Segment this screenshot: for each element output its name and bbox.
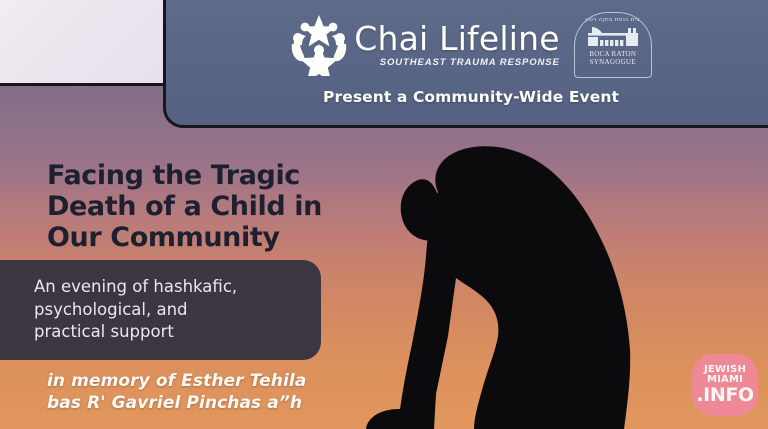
watermark-line-3: .INFO bbox=[696, 386, 753, 405]
synagogue-name-line2: SYNAGOGUE bbox=[589, 58, 636, 66]
memorial-line-2: bas R' Gavriel Pinchas a”h bbox=[47, 392, 377, 414]
synagogue-name: BOCA RATON SYNAGOGUE bbox=[589, 50, 636, 66]
page-title: Facing the Tragic Death of a Child in Ou… bbox=[47, 161, 377, 253]
chai-lifeline-logo: Chai Lifeline SOUTHEAST TRAUMA RESPONSE bbox=[290, 14, 559, 76]
memorial-dedication: in memory of Esther Tehila bas R' Gavrie… bbox=[47, 370, 377, 414]
hunched-man-silhouette-icon bbox=[378, 122, 708, 429]
subtitle-line-3: practical support bbox=[34, 321, 237, 344]
headline-line-3: Our Community bbox=[47, 223, 377, 254]
corner-light-panel bbox=[0, 0, 166, 86]
subtitle-box: An evening of hashkafic, psychological, … bbox=[0, 260, 321, 360]
headline-line-2: Death of a Child in bbox=[47, 192, 377, 223]
jewishmiami-watermark[interactable]: JEWISH MIAMI .INFO bbox=[692, 354, 758, 416]
synagogue-hebrew-name: בית כנסת בוקה רטון bbox=[585, 17, 640, 23]
present-line: Present a Community-Wide Event bbox=[323, 88, 619, 106]
headline-line-1: Facing the Tragic bbox=[47, 161, 377, 192]
poster-canvas: Chai Lifeline SOUTHEAST TRAUMA RESPONSE … bbox=[0, 0, 768, 429]
org-name: Chai Lifeline bbox=[354, 22, 559, 55]
subtitle-line-1: An evening of hashkafic, bbox=[34, 276, 237, 299]
synagogue-building-icon bbox=[586, 24, 640, 48]
logo-row: Chai Lifeline SOUTHEAST TRAUMA RESPONSE … bbox=[290, 6, 651, 84]
header-panel: Chai Lifeline SOUTHEAST TRAUMA RESPONSE … bbox=[163, 0, 768, 128]
subtitle-text: An evening of hashkafic, psychological, … bbox=[0, 276, 249, 344]
memorial-line-1: in memory of Esther Tehila bbox=[47, 370, 377, 392]
chai-lifeline-people-star-icon bbox=[290, 14, 348, 76]
subtitle-line-2: psychological, and bbox=[34, 299, 237, 322]
synagogue-name-line1: BOCA RATON bbox=[589, 50, 636, 58]
org-tagline: SOUTHEAST TRAUMA RESPONSE bbox=[380, 58, 560, 68]
boca-raton-synagogue-logo: בית כנסת בוקה רטון bbox=[574, 12, 652, 78]
